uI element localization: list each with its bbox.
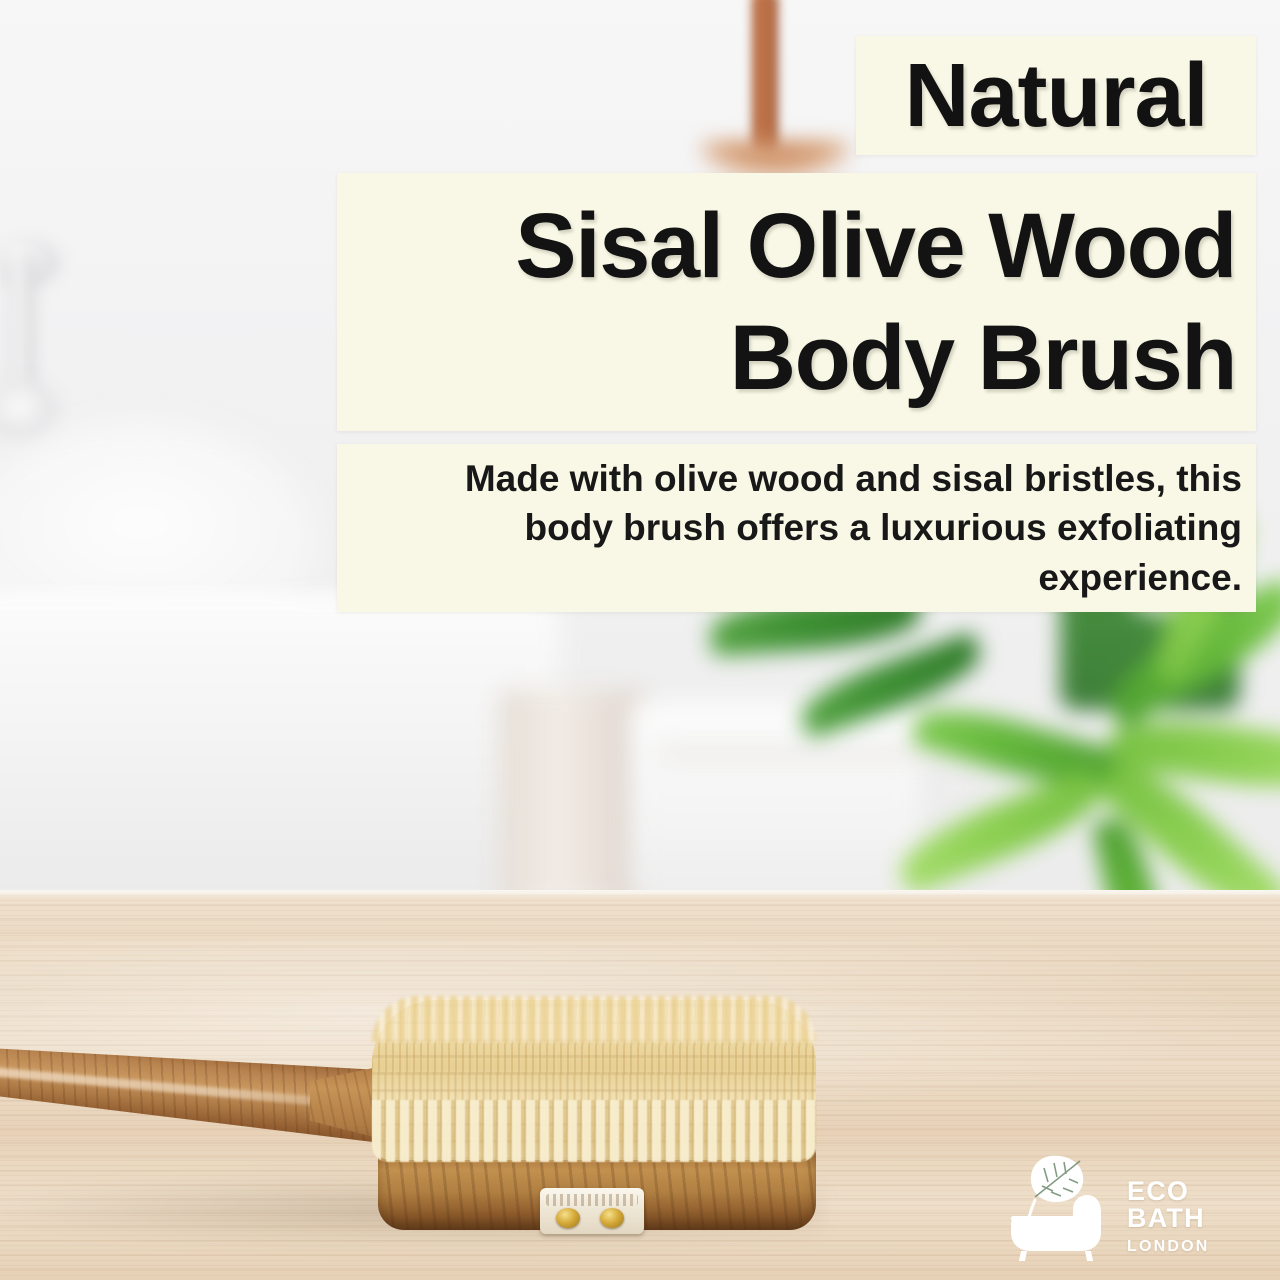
description-line-3: experience. bbox=[1038, 553, 1242, 602]
hanging-wood-handle bbox=[752, 0, 778, 155]
eyebrow-band: Natural bbox=[856, 36, 1256, 155]
brand-logo: ECO BATH LONDON bbox=[995, 1152, 1260, 1262]
description-line-1: Made with olive wood and sisal bristles,… bbox=[465, 454, 1242, 503]
description-band: Made with olive wood and sisal bristles,… bbox=[337, 444, 1256, 612]
eyebrow-text: Natural bbox=[904, 51, 1207, 141]
table-front-edge bbox=[0, 890, 1280, 898]
brush-bristle-crown bbox=[372, 996, 816, 1042]
description-line-2: body brush offers a luxurious exfoliatin… bbox=[525, 503, 1242, 552]
leaf bbox=[891, 767, 1110, 896]
brand-name: ECO BATH bbox=[1127, 1178, 1260, 1232]
brass-rivet-right bbox=[600, 1208, 624, 1228]
brush-bristle-tips bbox=[372, 1100, 816, 1162]
headline-band: Sisal Olive Wood Body Brush bbox=[337, 173, 1256, 431]
headline-line-1: Sisal Olive Wood bbox=[515, 190, 1236, 302]
brass-rivet-left bbox=[556, 1208, 580, 1228]
brand-wordmark: ECO BATH LONDON bbox=[1127, 1178, 1260, 1255]
product-body-brush bbox=[0, 980, 860, 1280]
headline-line-2: Body Brush bbox=[730, 302, 1236, 414]
potted-plant bbox=[860, 560, 1280, 940]
brush-strap-stitching bbox=[546, 1194, 638, 1206]
bathtub-leaf-icon bbox=[995, 1152, 1120, 1262]
brand-locality: LONDON bbox=[1127, 1239, 1260, 1255]
product-marketing-card: Natural Sisal Olive Wood Body Brush Made… bbox=[0, 0, 1280, 1280]
vanity-cabinet bbox=[0, 600, 560, 900]
beige-canister bbox=[500, 690, 645, 905]
